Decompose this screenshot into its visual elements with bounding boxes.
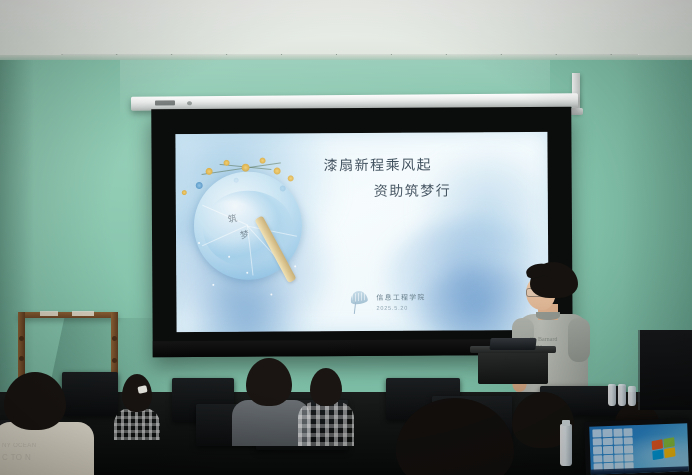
desktop-icon[interactable] [593, 446, 603, 454]
ginkgo-leaf-blade [350, 290, 369, 305]
wall-rack-peg-1 [19, 336, 24, 341]
slide-speck-3 [212, 284, 214, 286]
desktop-icon[interactable] [592, 429, 602, 437]
student-foreground [396, 398, 514, 475]
desktop-icon[interactable] [614, 454, 624, 462]
windows-desktop[interactable] [589, 423, 689, 474]
wall-rack-label-a [40, 311, 58, 316]
desktop-icon-grid[interactable] [592, 428, 633, 471]
desktop-icon[interactable] [624, 445, 634, 453]
desktop-icon[interactable] [623, 428, 633, 436]
water-bottle-2[interactable] [608, 384, 616, 406]
student-front-left-head [4, 372, 66, 430]
student-foreground-head [396, 398, 514, 475]
blossom-2 [224, 160, 230, 166]
slide-speck-5 [198, 242, 200, 244]
student-hairclip-body [114, 408, 160, 440]
slide-organization: 信息工程学院 [376, 293, 425, 303]
water-bottle-cap-1 [562, 420, 570, 426]
roller-brand-label [155, 100, 175, 105]
slide-footer: 信息工程学院 2025.5.20 [376, 293, 425, 312]
desktop-icon[interactable] [603, 455, 613, 463]
roller-indicator-dot [187, 101, 192, 105]
slide-speck-6 [294, 265, 296, 267]
student-shirt-text-line-2: C TO N [2, 454, 31, 462]
water-bottle-1[interactable] [560, 424, 572, 466]
student-shirt-text-line-1: NY OCEAN [2, 442, 36, 450]
podium-laptop[interactable] [489, 338, 536, 350]
desktop-icon[interactable] [623, 437, 633, 445]
ceiling [0, 0, 692, 62]
presenter-shirt-print-line-1: St. Barnard [530, 336, 574, 344]
desktop-icon[interactable] [603, 437, 613, 445]
student-hairclip [114, 374, 160, 440]
blossom-10 [182, 190, 187, 195]
podium [478, 350, 548, 384]
wall-shadow-left [0, 60, 34, 410]
presenter-collar [536, 312, 560, 320]
desktop-icon[interactable] [613, 437, 623, 445]
desktop-icon[interactable] [603, 429, 613, 437]
windows-logo-pane-yellow [664, 447, 675, 458]
student-plaid-body [298, 402, 354, 446]
ginkgo-leaf-stem [354, 302, 357, 314]
student-plaid-head [310, 368, 342, 406]
desktop-icon[interactable] [624, 454, 634, 462]
water-bottle-4[interactable] [628, 386, 636, 406]
desktop-icon[interactable] [613, 446, 623, 454]
presentation-slide: 筑 梦 漆扇新程乘风起 资助筑梦行 信息工程学院 2025.5.20 [175, 132, 548, 332]
classroom-scene: 筑 梦 漆扇新程乘风起 资助筑梦行 信息工程学院 2025.5.20 [0, 0, 692, 475]
windows-logo-pane-blue [652, 449, 663, 460]
water-bottle-3[interactable] [618, 384, 626, 406]
blossom-3 [242, 164, 250, 172]
blossom-4 [260, 158, 266, 164]
wall-rack-crossbar [18, 312, 118, 318]
wall-rack-peg-4 [112, 336, 117, 341]
student-gray-shirt-head [246, 358, 292, 406]
slide-date: 2025.5.20 [376, 306, 425, 312]
slide-speck-4 [270, 294, 272, 296]
wall-rack-label-b [72, 311, 94, 316]
door-panel[interactable] [640, 330, 692, 410]
ginkgo-leaf-icon [348, 291, 368, 315]
student-hairclip-head [122, 374, 152, 412]
desktop-icon[interactable] [593, 455, 603, 463]
wall-rack-peg-5 [112, 358, 117, 363]
slide-title-line-2: 资助筑梦行 [374, 180, 452, 200]
desktop-icon[interactable] [613, 429, 623, 437]
slide-speck-2 [246, 272, 248, 274]
windows-logo-icon [652, 437, 677, 461]
student-front-left: NY OCEAN C TO N [0, 372, 94, 475]
desktop-icon[interactable] [603, 446, 613, 454]
student-plaid [298, 368, 354, 446]
slide-speck-1 [228, 256, 230, 258]
slide-title-line-1: 漆扇新程乘风起 [324, 155, 433, 176]
desktop-icon[interactable] [593, 438, 603, 446]
wall-rack-peg-2 [19, 356, 24, 361]
computer-monitor-windows[interactable] [584, 418, 692, 475]
projector-screen[interactable]: 筑 梦 漆扇新程乘风起 资助筑梦行 信息工程学院 2025.5.20 [151, 107, 573, 358]
